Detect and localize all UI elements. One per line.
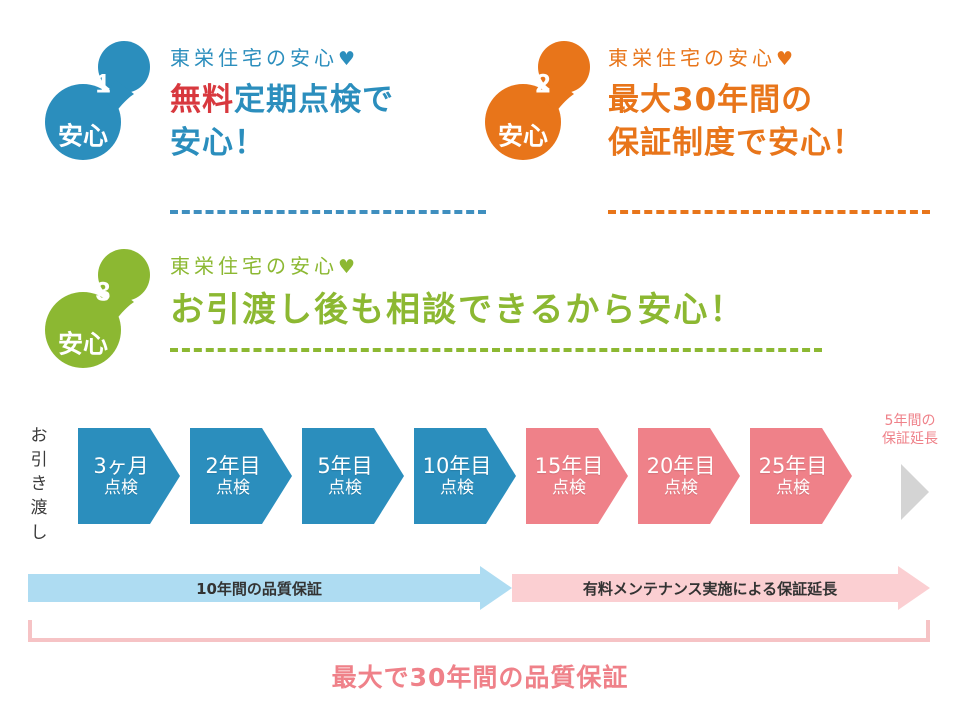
promise-kicker-text-2: 東栄住宅の安心 (608, 46, 776, 70)
promise-highlight-1: 無料 (170, 82, 234, 118)
inspection-period: 10年目 (423, 454, 492, 479)
promise-headline-3: お引渡し後も相談できるから安心！ (170, 287, 745, 334)
continuation-arrow-icon (901, 464, 931, 524)
warranty-bar-label: 10年間の品質保証 (28, 566, 490, 610)
promise-divider-1 (170, 210, 486, 214)
inspection-chevron-label: 15年目 点検 (526, 428, 612, 524)
inspection-kind: 点検 (104, 478, 138, 498)
extension-note: 5年間の 保証延長 (862, 412, 958, 449)
handover-char-3: 渡 (26, 496, 52, 520)
inspection-period: 5年目 (317, 454, 372, 479)
promise-badge-2: 2 安心 (480, 40, 590, 160)
warranty-bar-label: 有料メンテナンス実施による保証延長 (512, 566, 908, 610)
promise-badge-3: 3 安心 (40, 248, 150, 368)
inspection-chevron-label: 20年目 点検 (638, 428, 724, 524)
promise-headline-2-line2: 保証制度で安心！ (608, 125, 864, 161)
handover-char-4: し (26, 521, 52, 545)
promise-text-1: 東栄住宅の安心♥ 無料定期点検で 安心！ (170, 48, 394, 165)
inspection-kind: 点検 (328, 478, 362, 498)
promise-kicker-3: 東栄住宅の安心♥ (170, 256, 745, 277)
promise-headline-1-line2: 安心！ (170, 125, 266, 161)
inspection-chevron-label: 10年目 点検 (414, 428, 500, 524)
total-warranty-caption: 最大で30年間の品質保証 (0, 658, 960, 694)
total-warranty-bracket (28, 618, 930, 644)
heart-icon: ♥ (338, 256, 355, 278)
promise-kicker-text-3: 東栄住宅の安心 (170, 254, 338, 278)
handover-label: お 引 き 渡 し (26, 424, 52, 545)
promise-kicker-1: 東栄住宅の安心♥ (170, 48, 394, 69)
inspection-period: 3ヶ月 (93, 454, 148, 479)
inspection-period: 25年目 (759, 454, 828, 479)
infographic-canvas: 1 安心 東栄住宅の安心♥ 無料定期点検で 安心！ 2 安心 (0, 0, 960, 720)
inspection-period: 20年目 (647, 454, 716, 479)
promise-headline-1-rest: 定期点検で (234, 82, 394, 118)
promise-headline-1: 無料定期点検で 安心！ (170, 79, 394, 165)
promise-number-3: 3 (95, 279, 110, 306)
promise-text-3: 東栄住宅の安心♥ お引渡し後も相談できるから安心！ (170, 256, 745, 334)
inspection-chevron-label: 5年目 点検 (302, 428, 388, 524)
promise-headline-2-line1: 最大30年間の (608, 82, 813, 118)
promise-headline-3-line1: お引渡し後も相談できるから安心！ (170, 290, 745, 330)
promise-text-2: 東栄住宅の安心♥ 最大30年間の 保証制度で安心！ (608, 48, 864, 165)
promise-divider-3 (170, 348, 822, 352)
inspection-period: 2年目 (205, 454, 260, 479)
inspection-chevron-label: 25年目 点検 (750, 428, 836, 524)
promise-headline-2: 最大30年間の 保証制度で安心！ (608, 79, 864, 165)
promise-badge-word-1: 安心 (58, 124, 108, 149)
warranty-bar-extension: 有料メンテナンス実施による保証延長 (512, 566, 930, 610)
handover-char-1: 引 (26, 448, 52, 472)
promise-badge-word-2: 安心 (498, 124, 548, 149)
inspection-chevron-label: 2年目 点検 (190, 428, 276, 524)
handover-char-2: き (26, 472, 52, 496)
inspection-kind: 点検 (664, 478, 698, 498)
promise-badge-1: 1 安心 (40, 40, 150, 160)
heart-icon: ♥ (338, 48, 355, 70)
warranty-bar-quality: 10年間の品質保証 (28, 566, 512, 610)
inspection-kind: 点検 (216, 478, 250, 498)
extension-note-line1: 5年間の (862, 412, 958, 430)
maintenance-timeline: お 引 き 渡 し 3ヶ月 点検 2年目 点検 5年目 点検 (0, 404, 960, 720)
promise-number-2: 2 (535, 71, 550, 98)
inspection-period: 15年目 (535, 454, 604, 479)
inspection-kind: 点検 (440, 478, 474, 498)
handover-char-0: お (26, 424, 52, 448)
promise-kicker-text-1: 東栄住宅の安心 (170, 46, 338, 70)
promise-divider-2 (608, 210, 930, 214)
promise-number-1: 1 (95, 71, 110, 98)
extension-note-line2: 保証延長 (862, 430, 958, 448)
inspection-kind: 点検 (552, 478, 586, 498)
promise-kicker-2: 東栄住宅の安心♥ (608, 48, 864, 69)
heart-icon: ♥ (776, 48, 793, 70)
inspection-kind: 点検 (776, 478, 810, 498)
inspection-chevron-label: 3ヶ月 点検 (78, 428, 164, 524)
promise-badge-word-3: 安心 (58, 332, 108, 357)
